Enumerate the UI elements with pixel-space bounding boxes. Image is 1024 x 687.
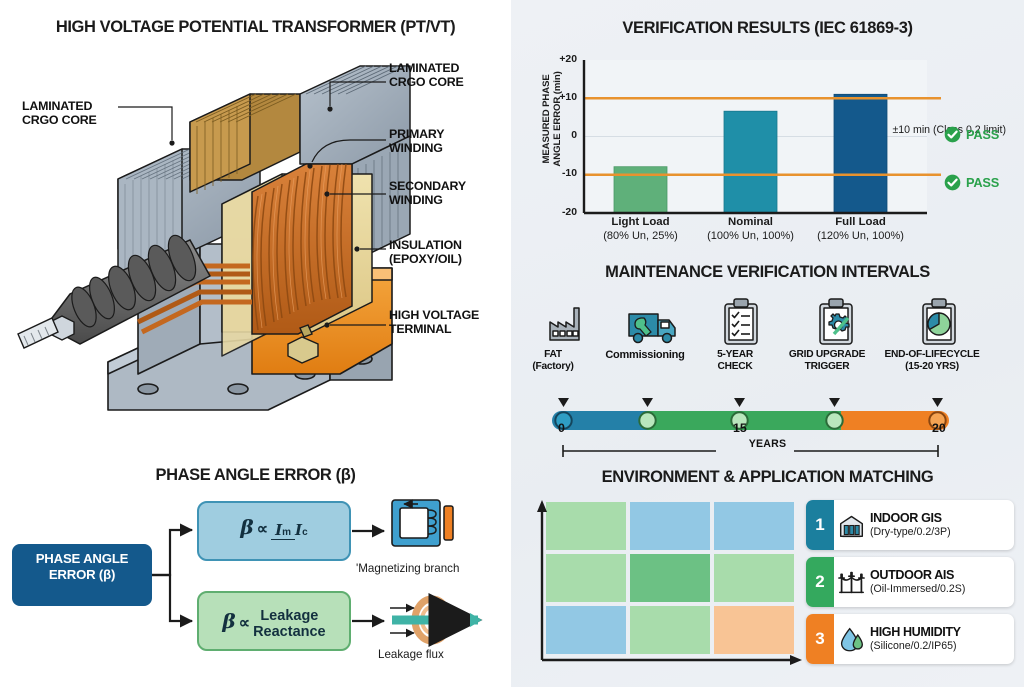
heatmap-svg xyxy=(528,496,808,674)
milestone-line: (Factory) xyxy=(514,361,592,373)
card-text: HIGH HUMIDITY (Silicone/0.2/IP65) xyxy=(868,614,1014,664)
heatmap-cell xyxy=(630,606,710,654)
label-line: TERMINAL xyxy=(389,323,514,337)
label-line: WINDING xyxy=(389,142,509,156)
label-laminated-crgo-core-right: LAMINATED CRGO CORE xyxy=(389,62,509,90)
label-line: INSULATION xyxy=(389,239,511,253)
pass-label: PASS xyxy=(966,175,999,190)
clipboard-chart-icon xyxy=(923,299,955,344)
category-sub: (120% Un, 100%) xyxy=(817,230,904,242)
label-line: SECONDARY xyxy=(389,180,511,194)
label-line: (EPOXY/OIL) xyxy=(389,253,511,267)
water-droplet-icon xyxy=(834,614,868,664)
label-insulation: INSULATION (EPOXY/OIL) xyxy=(389,239,511,267)
timeline-end-label: 20 xyxy=(932,421,946,435)
heatmap-cell xyxy=(630,554,710,602)
category-name: Nominal xyxy=(728,216,773,228)
flow-connectors xyxy=(152,530,192,621)
label-secondary-winding: SECONDARY WINDING xyxy=(389,180,511,208)
card-title: INDOOR GIS xyxy=(870,512,1014,525)
label-laminated-crgo-core-left: LAMINATED CRGO CORE xyxy=(22,100,142,128)
card-text: OUTDOOR AIS (Oil-Immersed/0.2S) xyxy=(868,557,1014,607)
card-title: OUTDOOR AIS xyxy=(870,569,1014,582)
milestone-line: FAT xyxy=(514,349,592,361)
y-tick-0: 0 xyxy=(547,130,577,141)
milestone-line: 5-YEAR xyxy=(696,349,774,361)
magnetizing-branch-icon xyxy=(392,500,453,546)
maintenance-intervals-title: MAINTENANCE VERIFICATION INTERVALS xyxy=(511,263,1024,282)
status-badge-pass-1: PASS xyxy=(944,126,999,143)
card-number: 1 xyxy=(806,500,834,550)
check-circle-icon xyxy=(944,126,961,143)
status-badge-pass-2: PASS xyxy=(944,174,999,191)
label-line: LAMINATED xyxy=(389,62,509,76)
check-circle-icon xyxy=(944,174,961,191)
timeline-axis-label: YEARS xyxy=(511,438,1024,450)
left-panel: HIGH VOLTAGE POTENTIAL TRANSFORMER (PT/V… xyxy=(0,0,511,687)
y-tick-20p: +20 xyxy=(547,54,577,65)
infographic-page: HIGH VOLTAGE POTENTIAL TRANSFORMER (PT/V… xyxy=(0,0,1024,687)
clipboard-gear-icon xyxy=(820,299,852,344)
category-name: Light Load xyxy=(611,216,669,228)
bar-full-load xyxy=(834,94,887,213)
label-line: CRGO CORE xyxy=(22,114,142,128)
transformer-section-title: HIGH VOLTAGE POTENTIAL TRANSFORMER (PT/V… xyxy=(0,18,511,37)
maintenance-timeline xyxy=(511,292,1024,457)
service-truck-icon xyxy=(629,314,675,343)
x-category-light-load: Light Load (80% Un, 25%) xyxy=(587,216,694,243)
x-category-full-load: Full Load (120% Un, 100%) xyxy=(807,216,914,243)
label-line: CRGO CORE xyxy=(389,76,509,90)
environment-heatmap xyxy=(528,496,808,674)
card-spec: (Dry-type/0.2/3P) xyxy=(870,526,1014,538)
environment-matching-title: ENVIRONMENT & APPLICATION MATCHING xyxy=(511,468,1024,487)
milestone-line: Commissioning xyxy=(595,349,695,361)
factory-icon xyxy=(550,308,579,340)
heatmap-cell xyxy=(546,606,626,654)
category-sub: (100% Un, 100%) xyxy=(707,230,794,242)
card-spec: (Silicone/0.2/IP65) xyxy=(870,640,1014,652)
milestone-line: (15-20 YRS) xyxy=(876,361,988,373)
caption-magnetizing-branch: 'Magnetizing branch xyxy=(356,562,511,575)
formula-box-magnetizing xyxy=(198,502,350,560)
card-title: HIGH HUMIDITY xyxy=(870,626,1014,639)
heatmap-cell xyxy=(714,554,794,602)
milestone-label-fat: FAT (Factory) xyxy=(514,349,592,372)
heatmap-cells xyxy=(546,502,794,654)
timeline-start-label: 0 xyxy=(558,421,565,435)
label-line: WINDING xyxy=(389,194,511,208)
application-card-outdoor-ais[interactable]: 2 OUT xyxy=(806,557,1014,607)
caption-leakage-flux: Leakage flux xyxy=(378,648,498,661)
application-cards-list: 1 INDOOR GIS (Dry-type/0.2/3P) 2 xyxy=(806,500,1014,671)
indoor-substation-icon xyxy=(834,500,868,550)
formula-box-leakage xyxy=(198,592,350,650)
y-tick-10p: +10 xyxy=(547,92,577,103)
outdoor-pylon-icon xyxy=(834,557,868,607)
heatmap-cell xyxy=(630,502,710,550)
heatmap-cell xyxy=(546,502,626,550)
milestone-label-grid-upgrade: GRID UPGRADE TRIGGER xyxy=(781,349,873,372)
clipboard-check-icon xyxy=(725,299,757,344)
application-card-indoor-gis[interactable]: 1 INDOOR GIS (Dry-type/0.2/3P) xyxy=(806,500,1014,550)
label-line: LAMINATED xyxy=(22,100,142,114)
label-high-voltage-terminal: HIGH VOLTAGE TERMINAL xyxy=(389,309,514,337)
primary-winding xyxy=(252,164,352,334)
x-category-nominal: Nominal (100% Un, 100%) xyxy=(697,216,804,243)
y-tick-10n: -10 xyxy=(547,168,577,179)
card-spec: (Oil-Immersed/0.2S) xyxy=(870,583,1014,595)
card-number: 2 xyxy=(806,557,834,607)
bar-nominal xyxy=(724,111,777,213)
card-text: INDOOR GIS (Dry-type/0.2/3P) xyxy=(868,500,1014,550)
category-name: Full Load xyxy=(835,216,886,228)
timeline-bar xyxy=(552,411,949,430)
phase-angle-section-title: PHASE ANGLE ERROR (β) xyxy=(0,466,511,485)
timeline-svg xyxy=(511,292,1024,457)
y-tick-20n: -20 xyxy=(547,207,577,218)
phase-angle-source-box xyxy=(12,544,152,606)
leakage-flux-icon xyxy=(390,599,482,641)
verification-bar-chart: MEASURED PHASE ANGLE ERROR (min) +20 +10… xyxy=(511,48,1024,248)
heatmap-cell xyxy=(714,502,794,550)
card-number: 3 xyxy=(806,614,834,664)
heatmap-cell xyxy=(714,606,794,654)
application-card-high-humidity[interactable]: 3 HIGH HUMIDITY (Silicone/0.2/IP65) xyxy=(806,614,1014,664)
verification-results-title: VERIFICATION RESULTS (IEC 61869-3) xyxy=(511,19,1024,38)
milestone-label-commissioning: Commissioning xyxy=(595,349,695,361)
milestone-line: GRID UPGRADE xyxy=(781,349,873,361)
milestone-label-5-year-check: 5-YEAR CHECK xyxy=(696,349,774,372)
heatmap-cell xyxy=(546,554,626,602)
timeline-markers xyxy=(558,398,943,407)
category-sub: (80% Un, 25%) xyxy=(603,230,678,242)
label-line: HIGH VOLTAGE xyxy=(389,309,514,323)
milestone-line: CHECK xyxy=(696,361,774,373)
milestone-line: END-OF-LIFECYCLE xyxy=(876,349,988,361)
label-line: PRIMARY xyxy=(389,128,509,142)
timeline-mid-label: 15 xyxy=(733,421,747,435)
pass-label: PASS xyxy=(966,127,999,142)
label-primary-winding: PRIMARY WINDING xyxy=(389,128,509,156)
milestone-line: TRIGGER xyxy=(781,361,873,373)
milestone-label-end-of-lifecycle: END-OF-LIFECYCLE (15-20 YRS) xyxy=(876,349,988,372)
